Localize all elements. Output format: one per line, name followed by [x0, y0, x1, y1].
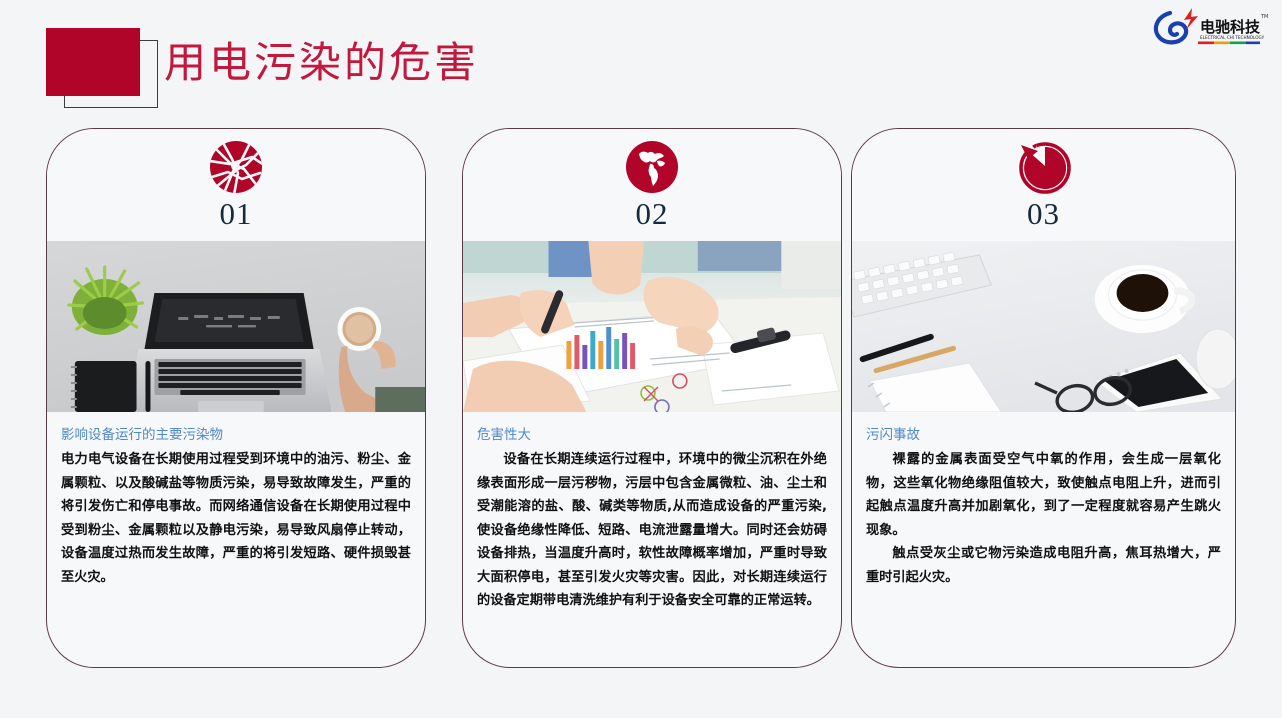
card-02-number: 02 — [636, 195, 669, 233]
desk-keyboard-coffee-photo — [852, 241, 1235, 412]
card-01-paragraph-1: 电力电气设备在长期使用过程受到环境中的油污、粉尘、金属颗粒、以及酸碱盐等物质污染… — [61, 448, 411, 589]
card-01-heading: 影响设备运行的主要污染物 — [61, 424, 411, 446]
card-03-text: 裸露的金属表面受空气中氧的作用，会生成一层氧化物，这些氧化物绝缘阻值较大，致使触… — [866, 448, 1221, 589]
card-03-heading: 污闪事故 — [866, 424, 1221, 446]
card-01[interactable]: 01 — [46, 128, 426, 668]
cards-container: 01 — [0, 0, 1282, 718]
team-meeting-charts-photo — [463, 241, 841, 412]
card-02-text: 设备在长期连续运行过程中，环境中的微尘沉积在外绝缘表面形成一层污秽物，污层中包含… — [477, 448, 827, 613]
card-01-text: 电力电气设备在长期使用过程受到环境中的油污、粉尘、金属颗粒、以及酸碱盐等物质污染… — [61, 448, 411, 589]
card-03-number: 03 — [1027, 195, 1060, 233]
card-02-paragraph-1: 设备在长期连续运行过程中，环境中的微尘沉积在外绝缘表面形成一层污秽物，污层中包含… — [477, 448, 827, 613]
card-01-head: 01 — [47, 129, 425, 241]
world-globe-icon — [624, 139, 680, 195]
card-02-head: 02 — [463, 129, 841, 241]
card-02-heading: 危害性大 — [477, 424, 827, 446]
desk-keyboard-photo-art — [852, 241, 1235, 412]
card-02-body: 危害性大 设备在长期连续运行过程中，环境中的微尘沉积在外绝缘表面形成一层污秽物，… — [463, 412, 841, 613]
cracked-globe-icon — [208, 139, 264, 195]
card-03[interactable]: 03 — [851, 128, 1236, 668]
card-02[interactable]: 02 — [462, 128, 842, 668]
card-03-paragraph-2: 触点受灰尘或它物污染造成电阻升高，焦耳热增大，严重时引起火灾。 — [866, 542, 1221, 589]
card-03-body: 污闪事故 裸露的金属表面受空气中氧的作用，会生成一层氧化物，这些氧化物绝缘阻值较… — [852, 412, 1235, 589]
card-01-body: 影响设备运行的主要污染物 电力电气设备在长期使用过程受到环境中的油污、粉尘、金属… — [47, 412, 425, 589]
desk-laptop-photo-art — [47, 241, 425, 412]
card-01-number: 01 — [220, 195, 253, 233]
desk-laptop-photo — [47, 241, 425, 412]
slide-root: 电驰科技 ELECTRICAL CHI TECHNOLOGY TM 用电污染的危… — [0, 0, 1282, 718]
card-03-head: 03 — [852, 129, 1235, 241]
card-03-paragraph-1: 裸露的金属表面受空气中氧的作用，会生成一层氧化物，这些氧化物绝缘阻值较大，致使触… — [866, 448, 1221, 542]
pie-timer-arrow-icon — [1016, 139, 1072, 195]
team-meeting-photo-art — [463, 241, 841, 412]
